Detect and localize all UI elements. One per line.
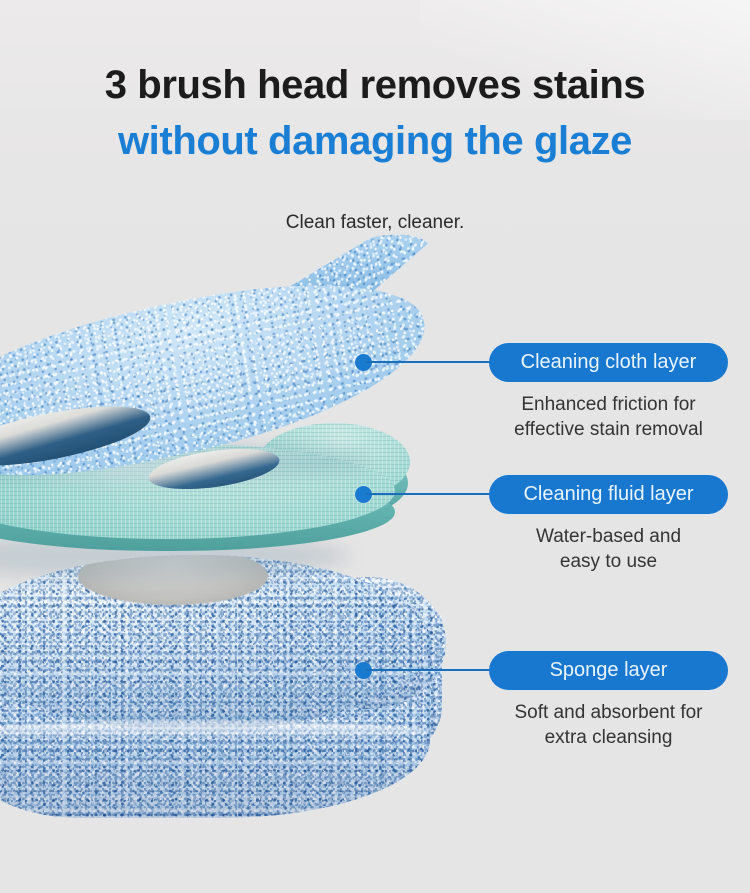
desc-sponge-line1: Soft and absorbent for (489, 700, 728, 725)
leader-line-sponge (366, 669, 496, 671)
product-layer-cloth (0, 265, 450, 495)
sponge-top-rim (0, 723, 430, 739)
headline-secondary: without damaging the glaze (0, 118, 750, 164)
leader-line-cloth (366, 361, 496, 363)
product-infographic: 3 brush head removes stains without dama… (0, 0, 750, 893)
badge-cleaning-cloth-layer[interactable]: Cleaning cloth layer (489, 343, 728, 382)
desc-cleaning-cloth-line2: effective stain removal (489, 417, 728, 442)
desc-cleaning-fluid-line1: Water-based and (489, 524, 728, 549)
subtitle: Clean faster, cleaner. (0, 210, 750, 236)
product-layer-sponge (0, 555, 480, 855)
desc-cleaning-cloth-line1: Enhanced friction for (489, 392, 728, 417)
headline-primary: 3 brush head removes stains (0, 62, 750, 108)
desc-cleaning-fluid-line2: easy to use (489, 549, 728, 574)
leader-line-fluid (366, 493, 496, 495)
badge-cleaning-fluid-layer[interactable]: Cleaning fluid layer (489, 475, 728, 514)
badge-sponge-layer[interactable]: Sponge layer (489, 651, 728, 690)
product-illustration (0, 255, 500, 893)
desc-sponge-line2: extra cleansing (489, 725, 728, 750)
